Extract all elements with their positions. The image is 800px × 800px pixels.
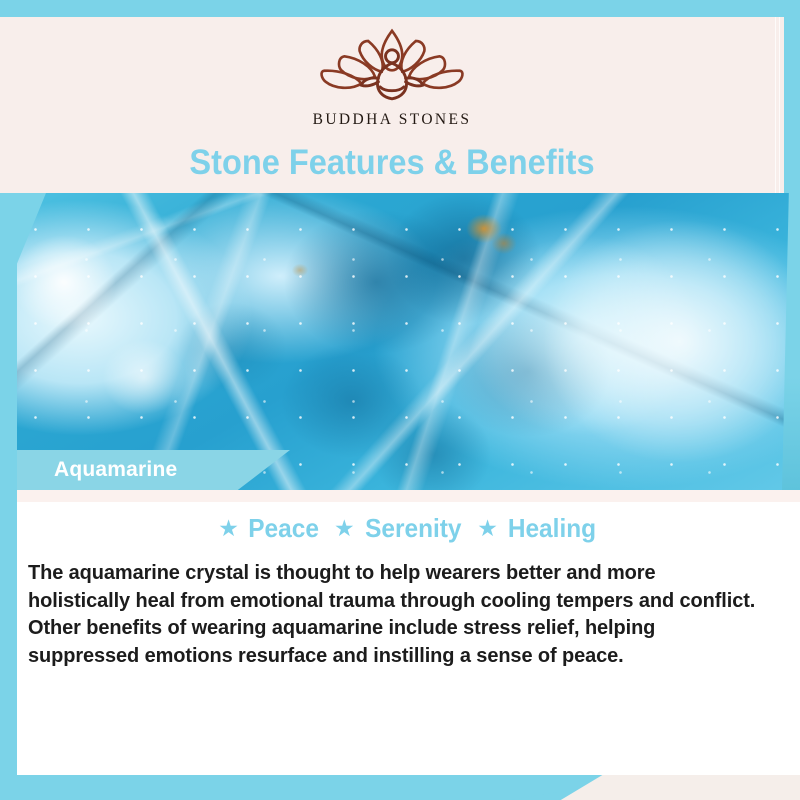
crystal-sparkle-layer (0, 193, 800, 490)
star-icon: ★ (334, 517, 355, 540)
keyword-label: Healing (508, 513, 596, 544)
star-icon: ★ (477, 517, 498, 540)
keyword-item-healing: ★ Healing (477, 513, 599, 544)
keyword-item-peace: ★ Peace (218, 513, 321, 544)
accent-bar-bottom (0, 775, 607, 800)
stone-name-label: Aquamarine (54, 458, 177, 482)
keyword-label: Peace (248, 513, 319, 544)
panel-top-tint (17, 490, 800, 502)
keyword-item-serenity: ★ Serenity (334, 513, 464, 544)
page-title: Stone Features & Benefits (27, 143, 756, 183)
stone-benefits-poster: BUDDHA STONES Stone Features & Benefits … (0, 0, 800, 800)
keyword-row: ★ Peace ★ Serenity ★ Healing (17, 513, 800, 544)
brand-logo: BUDDHA STONES (0, 17, 784, 137)
stone-description: The aquamarine crystal is thought to hel… (28, 560, 757, 670)
brand-name: BUDDHA STONES (313, 111, 472, 129)
accent-rail-left (0, 193, 17, 800)
keyword-label: Serenity (365, 513, 461, 544)
star-icon: ★ (218, 517, 239, 540)
lotus-meditation-icon (307, 24, 477, 109)
crystal-hero-image (0, 193, 800, 490)
